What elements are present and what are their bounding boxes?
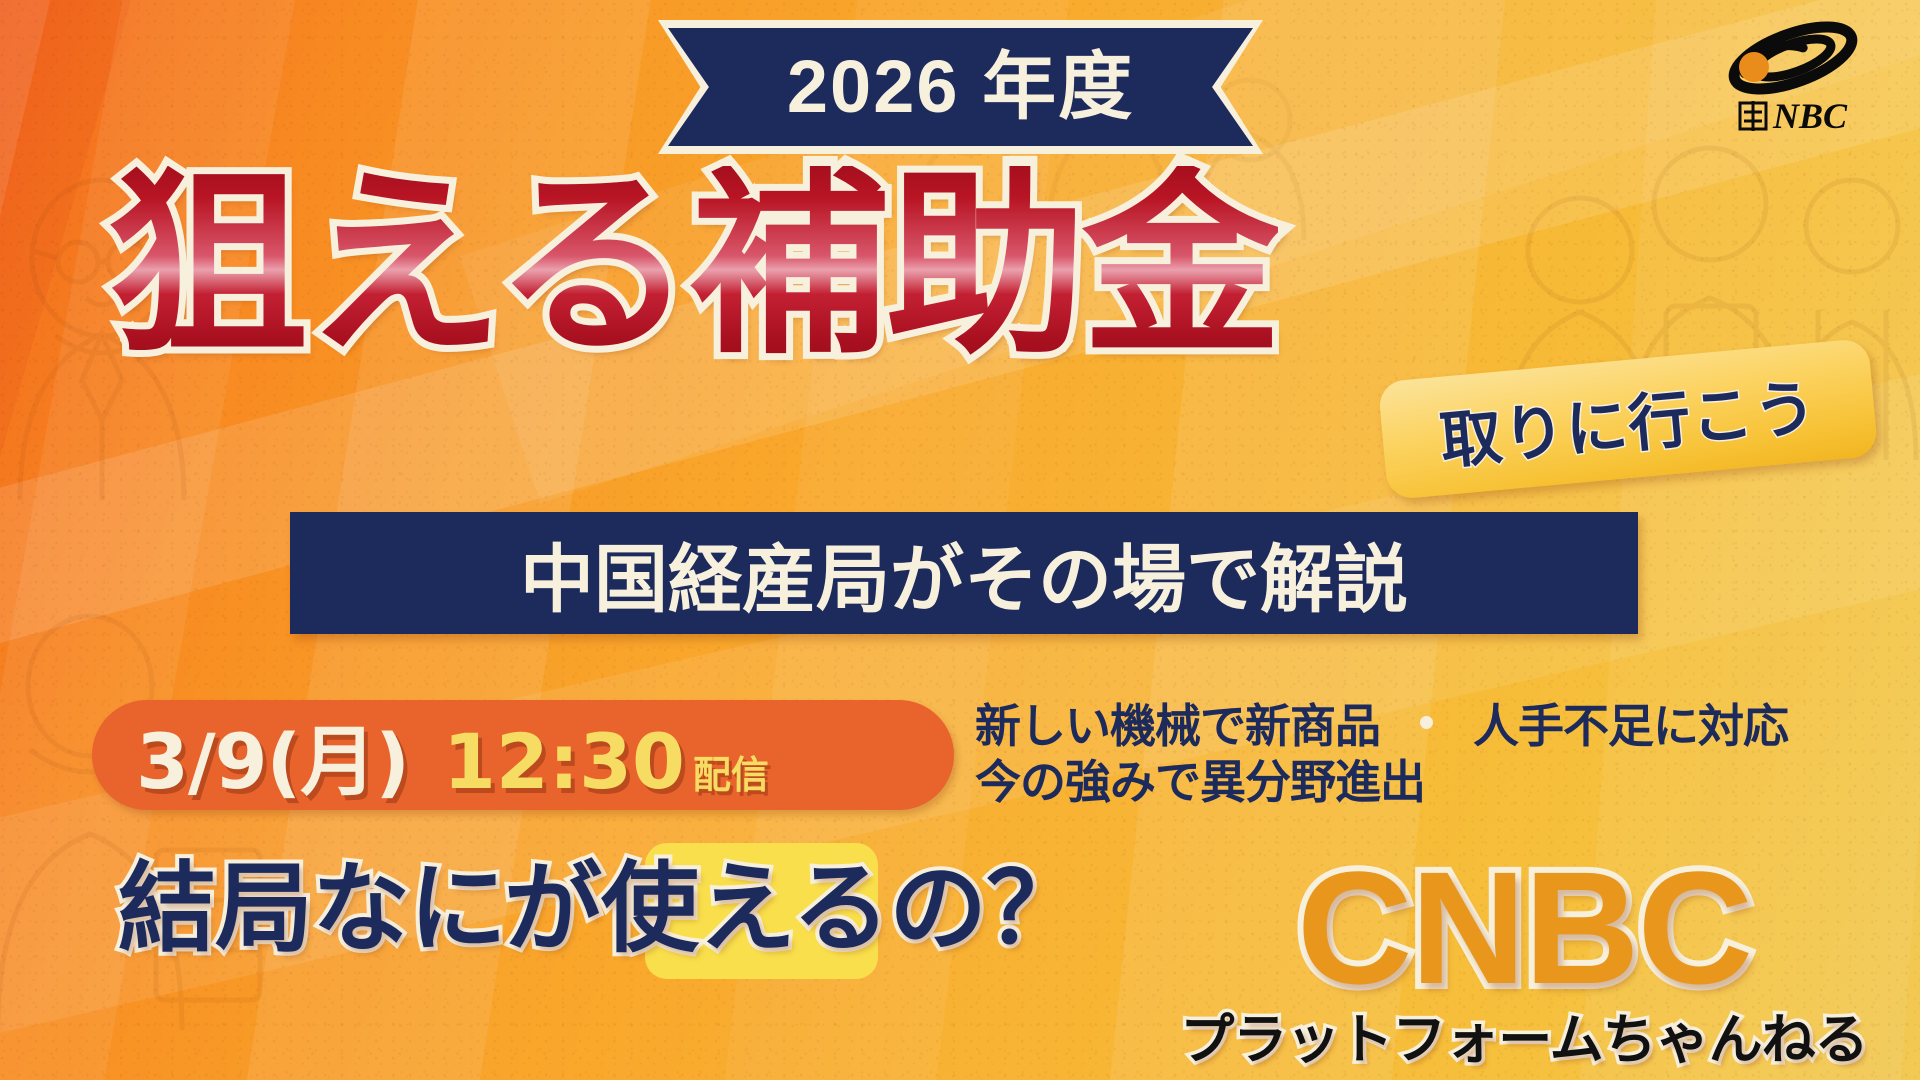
nbc-swoosh-icon (1718, 18, 1868, 96)
cnbc-wordmark: CNBC (1174, 854, 1874, 1001)
cnbc-tagline: プラットフォームちゃんねる (1174, 995, 1874, 1074)
schedule-row: 3/9(月) 12:30 配信 (92, 700, 769, 810)
headline: 狙える補助金 (108, 166, 1278, 366)
nbc-wordmark: NBC (1773, 98, 1847, 134)
cta-badge-label: 取りに行こう (1436, 357, 1821, 481)
benefit-item-2: 人手不足に対応 (1473, 698, 1788, 754)
nbc-wordmark-row: NBC (1718, 98, 1878, 134)
question-line: 結局なにが使えるの？ (118, 848, 1083, 984)
year-ribbon-label: 2026 年度 (787, 50, 1134, 124)
benefit-row-2: 今の強みで異分野進出 (975, 754, 1905, 810)
benefit-list: 新しい機械で新商品 人手不足に対応 今の強みで異分野進出 (975, 698, 1905, 810)
subtitle-bar-label: 中国経産局がその場で解説 (520, 520, 1408, 627)
cnbc-logo-block: CNBC プラットフォームちゃんねる (1174, 854, 1874, 1074)
schedule-time: 12:30 (443, 717, 685, 806)
bullet-dot-icon (1420, 716, 1433, 729)
promo-poster: 2026 年度 NBC 狙える補助金 狙える補助金 (0, 0, 1920, 1080)
nbc-logo: NBC (1718, 18, 1878, 146)
schedule-suffix: 配信 (693, 744, 769, 799)
schedule-pill: 3/9(月) 12:30 配信 (92, 700, 954, 810)
nbc-kanji-icon (1738, 101, 1768, 131)
year-ribbon: 2026 年度 (668, 28, 1253, 146)
benefit-row-1: 新しい機械で新商品 人手不足に対応 (975, 698, 1905, 754)
benefit-item-1: 新しい機械で新商品 (975, 698, 1380, 754)
question-text: 結局なにが使えるの？ (118, 852, 1083, 966)
schedule-date: 3/9(月) (136, 700, 409, 810)
benefit-item-3: 今の強みで異分野進出 (975, 754, 1425, 810)
subtitle-bar: 中国経産局がその場で解説 (290, 512, 1638, 634)
